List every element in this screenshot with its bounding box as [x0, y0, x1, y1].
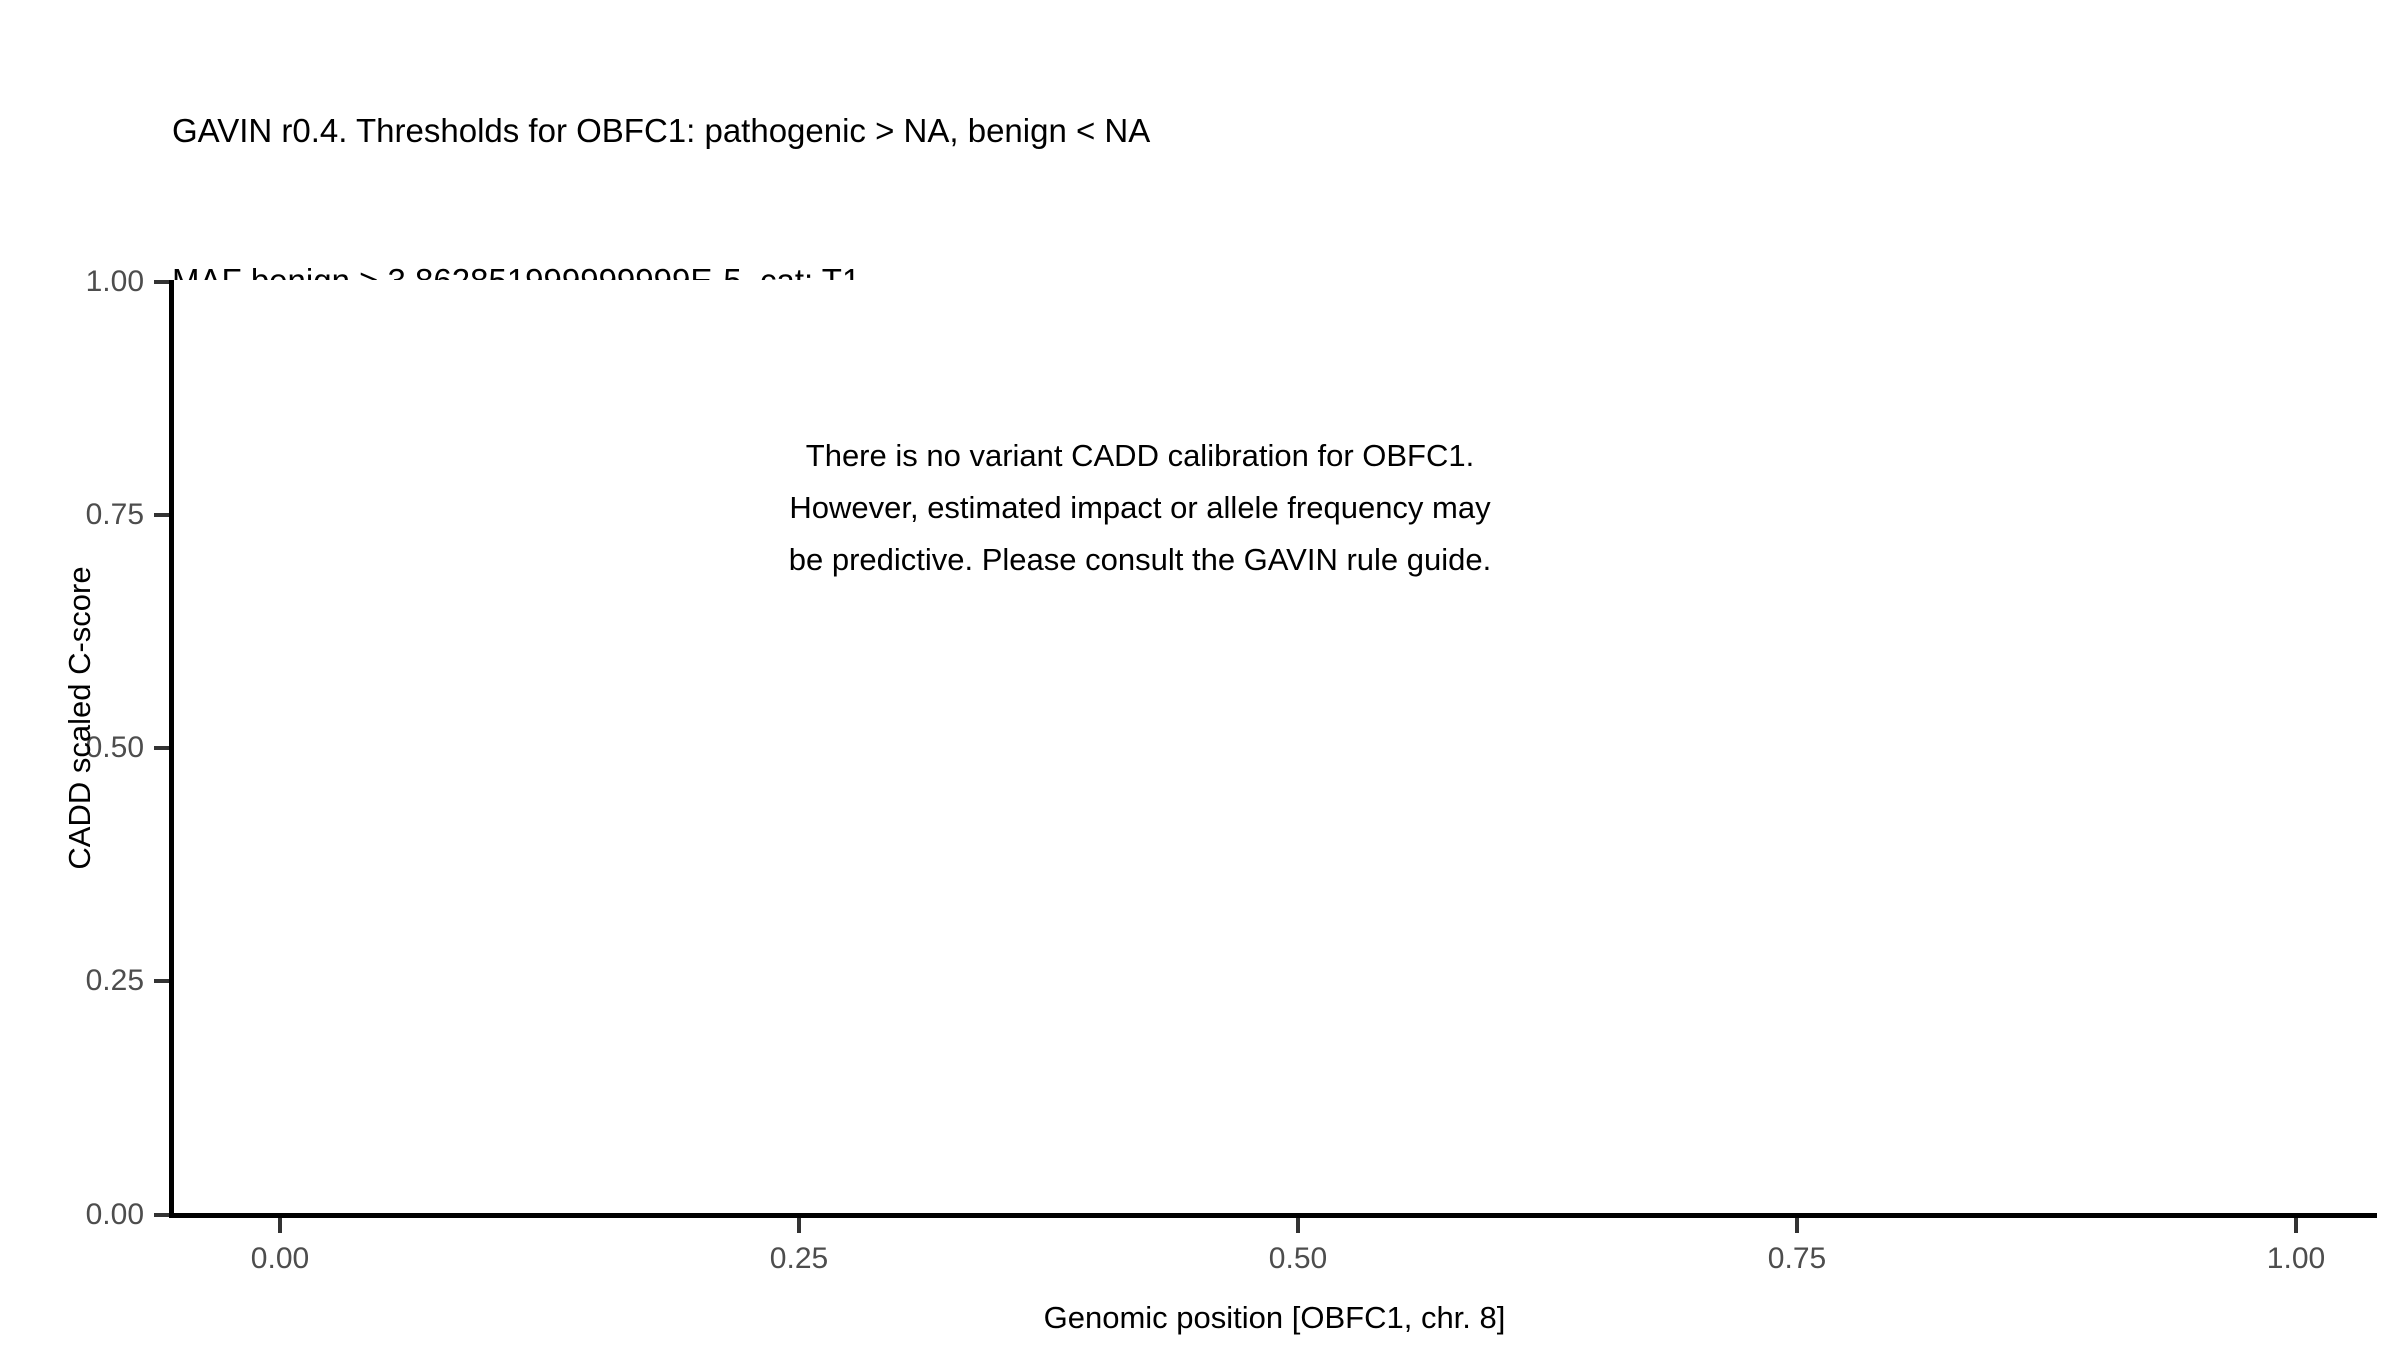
- plot-root: GAVIN r0.4. Thresholds for OBFC1: pathog…: [0, 0, 2400, 1350]
- no-calibration-annotation: There is no variant CADD calibration for…: [140, 430, 2140, 586]
- y-axis-tick-0.00: [154, 1213, 169, 1217]
- x-axis-ticklabel-0.00: 0.00: [180, 1243, 380, 1275]
- annotation-line-1: There is no variant CADD calibration for…: [140, 430, 2140, 482]
- x-axis-tick-1.00: [2294, 1218, 2298, 1233]
- annotation-line-2: However, estimated impact or allele freq…: [140, 482, 2140, 534]
- x-axis-line: [169, 1213, 2377, 1218]
- x-axis-title: Genomic position [OBFC1, chr. 8]: [172, 1300, 2377, 1336]
- y-axis-line: [169, 280, 174, 1218]
- y-axis-tick-1.00: [154, 280, 169, 284]
- x-axis-tick-0.75: [1795, 1218, 1799, 1233]
- y-axis-tick-0.25: [154, 979, 169, 983]
- y-axis-tick-0.50: [154, 746, 169, 750]
- plot-title-line-1: GAVIN r0.4. Thresholds for OBFC1: pathog…: [172, 106, 2372, 156]
- y-axis-title: CADD scaled C-score: [62, 318, 98, 1118]
- x-axis-ticklabel-0.75: 0.75: [1697, 1243, 1897, 1275]
- x-axis-ticklabel-0.50: 0.50: [1198, 1243, 1398, 1275]
- x-axis-tick-0.00: [278, 1218, 282, 1233]
- x-axis-ticklabel-0.25: 0.25: [699, 1243, 899, 1275]
- x-axis-tick-0.50: [1296, 1218, 1300, 1233]
- annotation-line-3: be predictive. Please consult the GAVIN …: [140, 534, 2140, 586]
- y-axis-ticklabel-1.00: 1.00: [0, 267, 144, 297]
- y-axis-ticklabel-0.00: 0.00: [0, 1200, 144, 1230]
- plot-panel: [172, 280, 2377, 1215]
- x-axis-tick-0.25: [797, 1218, 801, 1233]
- x-axis-ticklabel-1.00: 1.00: [2196, 1243, 2396, 1275]
